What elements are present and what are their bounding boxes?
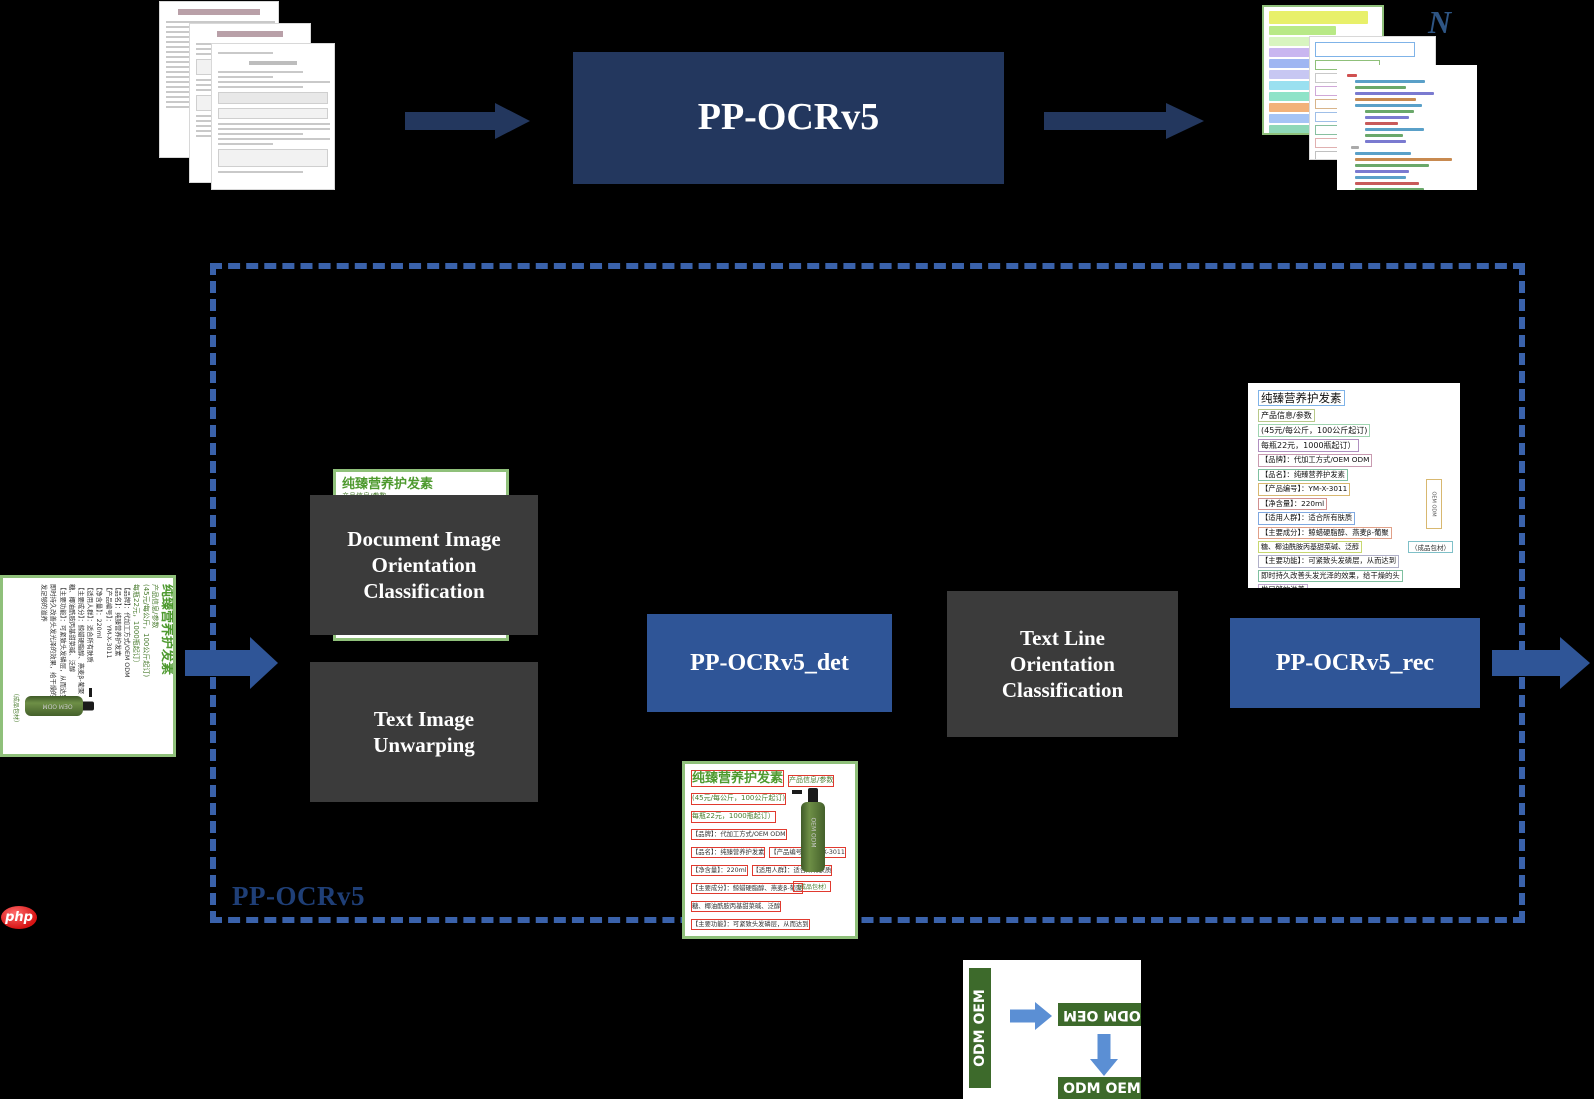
corner-mark-n: N (1428, 4, 1451, 41)
stage-doc-orientation-line1: Document Image (347, 526, 500, 552)
rec-title: 纯臻营养护发素 (1258, 390, 1345, 406)
arrow-input-to-model (405, 103, 530, 139)
pp-ocrv5-title-label: PP-OCRv5 (698, 94, 880, 142)
input-document-stack (160, 2, 335, 190)
diagram-canvas: PP-OCRv5 (0, 0, 1594, 946)
rotated-bottle-caption: （成品包材） (12, 690, 21, 726)
stage-text-image-unwarping[interactable]: Text Image Unwarping (310, 662, 538, 802)
pp-ocrv5-title-box[interactable]: PP-OCRv5 (573, 52, 1004, 184)
rec-bottle-text-box: OEM ODM (1426, 479, 1442, 529)
arrow-odm-down (1090, 1034, 1118, 1076)
output-json-text (1337, 65, 1477, 190)
rotated-product-title: 纯臻营养护发素 (159, 584, 174, 754)
stage-textline-line2: Orientation (1010, 651, 1115, 677)
det-bottle-caption: （成品包材） (793, 881, 831, 892)
det-product-bottle: OEM ODM (801, 802, 825, 872)
input-sheet-1 (212, 44, 334, 189)
stage-ppocrv5-det[interactable]: PP-OCRv5_det (647, 614, 892, 712)
stage-doc-orientation-classification[interactable]: Document Image Orientation Classificatio… (310, 495, 538, 635)
stage-doc-orientation-line2: Orientation (372, 552, 477, 578)
stage-doc-orientation-line3: Classification (363, 578, 484, 604)
product-title: 纯臻营养护发素 (342, 477, 500, 492)
stage-unwarping-line2: Unwarping (373, 732, 475, 758)
stage-rec-label: PP-OCRv5_rec (1276, 648, 1434, 678)
recognition-result-image: 纯臻营养护发素 产品信息/参数 (45元/每公斤，100公斤起订) 每瓶22元，… (1248, 383, 1460, 588)
php-watermark-logo: php (1, 906, 37, 929)
arrow-odm-right (1010, 1002, 1052, 1030)
rotated-product-bottle: OEM ODM (25, 696, 83, 716)
rotated-product-image: 纯臻营养护发素 产品信息/参数 (45元/每公斤，100公斤起订) 每瓶22元，… (0, 575, 176, 757)
rec-bottle-caption-box: （成品包材） (1408, 541, 1453, 553)
stage-det-label: PP-OCRv5_det (690, 648, 849, 678)
stage-textline-line1: Text Line (1020, 625, 1105, 651)
arrow-model-to-output (1044, 103, 1204, 139)
pipeline-frame-label: PP-OCRv5 (232, 881, 365, 912)
odm-vertical-text: ODM OEM (969, 968, 991, 1088)
arrow-pipeline-to-output (1492, 637, 1590, 689)
odm-rotated-text: ODM OEM (1058, 1003, 1141, 1026)
stage-ppocrv5-rec[interactable]: PP-OCRv5_rec (1230, 618, 1480, 708)
stage-unwarping-line1: Text Image (374, 706, 474, 732)
odm-corrected-text: ODM OEM (1058, 1077, 1141, 1099)
php-logo-text: php (5, 910, 33, 925)
arrow-input-to-pipeline (185, 637, 278, 689)
detection-result-image: 纯臻营养护发素 产品信息/参数 (45元/每公斤，100公斤起订) 每瓶22元，… (682, 761, 858, 939)
det-title: 纯臻营养护发素 (691, 770, 784, 787)
textline-orientation-sample: ODM OEM ODM OEM ODM OEM (963, 960, 1141, 1099)
stage-textline-line3: Classification (1002, 677, 1123, 703)
stage-textline-orientation-classification[interactable]: Text Line Orientation Classification (947, 591, 1178, 737)
